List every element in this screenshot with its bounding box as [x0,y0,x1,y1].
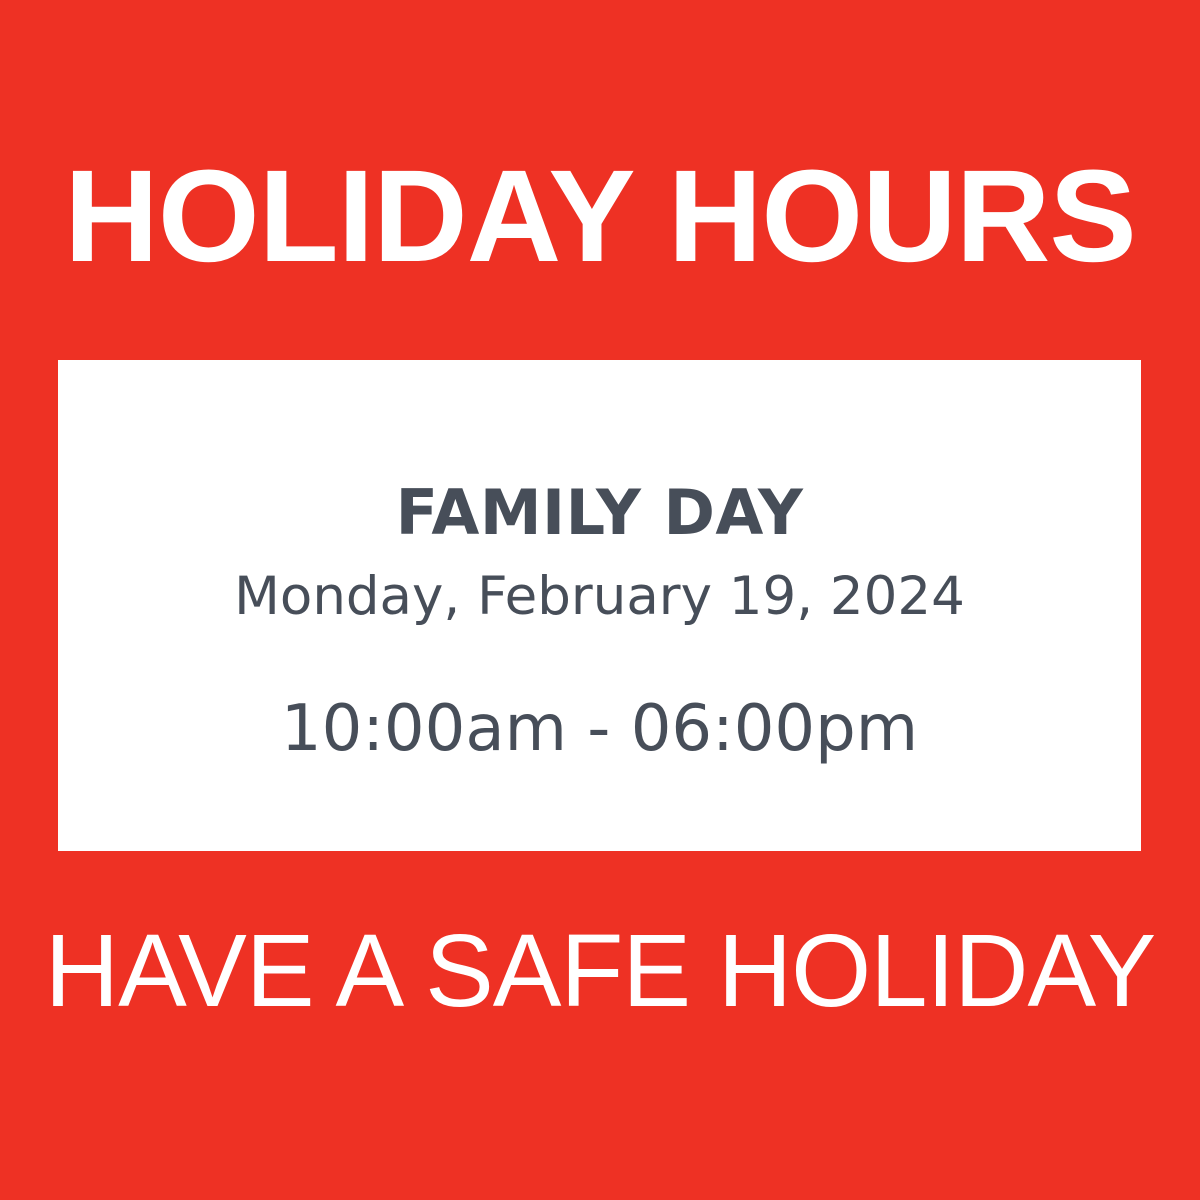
holiday-date: Monday, February 19, 2024 [58,570,1141,623]
holiday-info-card: FAMILY DAY Monday, February 19, 2024 10:… [58,360,1141,851]
page-title: HOLIDAY HOURS [0,150,1200,281]
holiday-name: FAMILY DAY [58,482,1141,544]
holiday-hours-poster: HOLIDAY HOURS FAMILY DAY Monday, Februar… [0,0,1200,1200]
holiday-hours-range: 10:00am - 06:00pm [58,697,1141,761]
holiday-info-card-content: FAMILY DAY Monday, February 19, 2024 10:… [58,360,1141,851]
footer-message: HAVE A SAFE HOLIDAY [0,919,1200,1022]
